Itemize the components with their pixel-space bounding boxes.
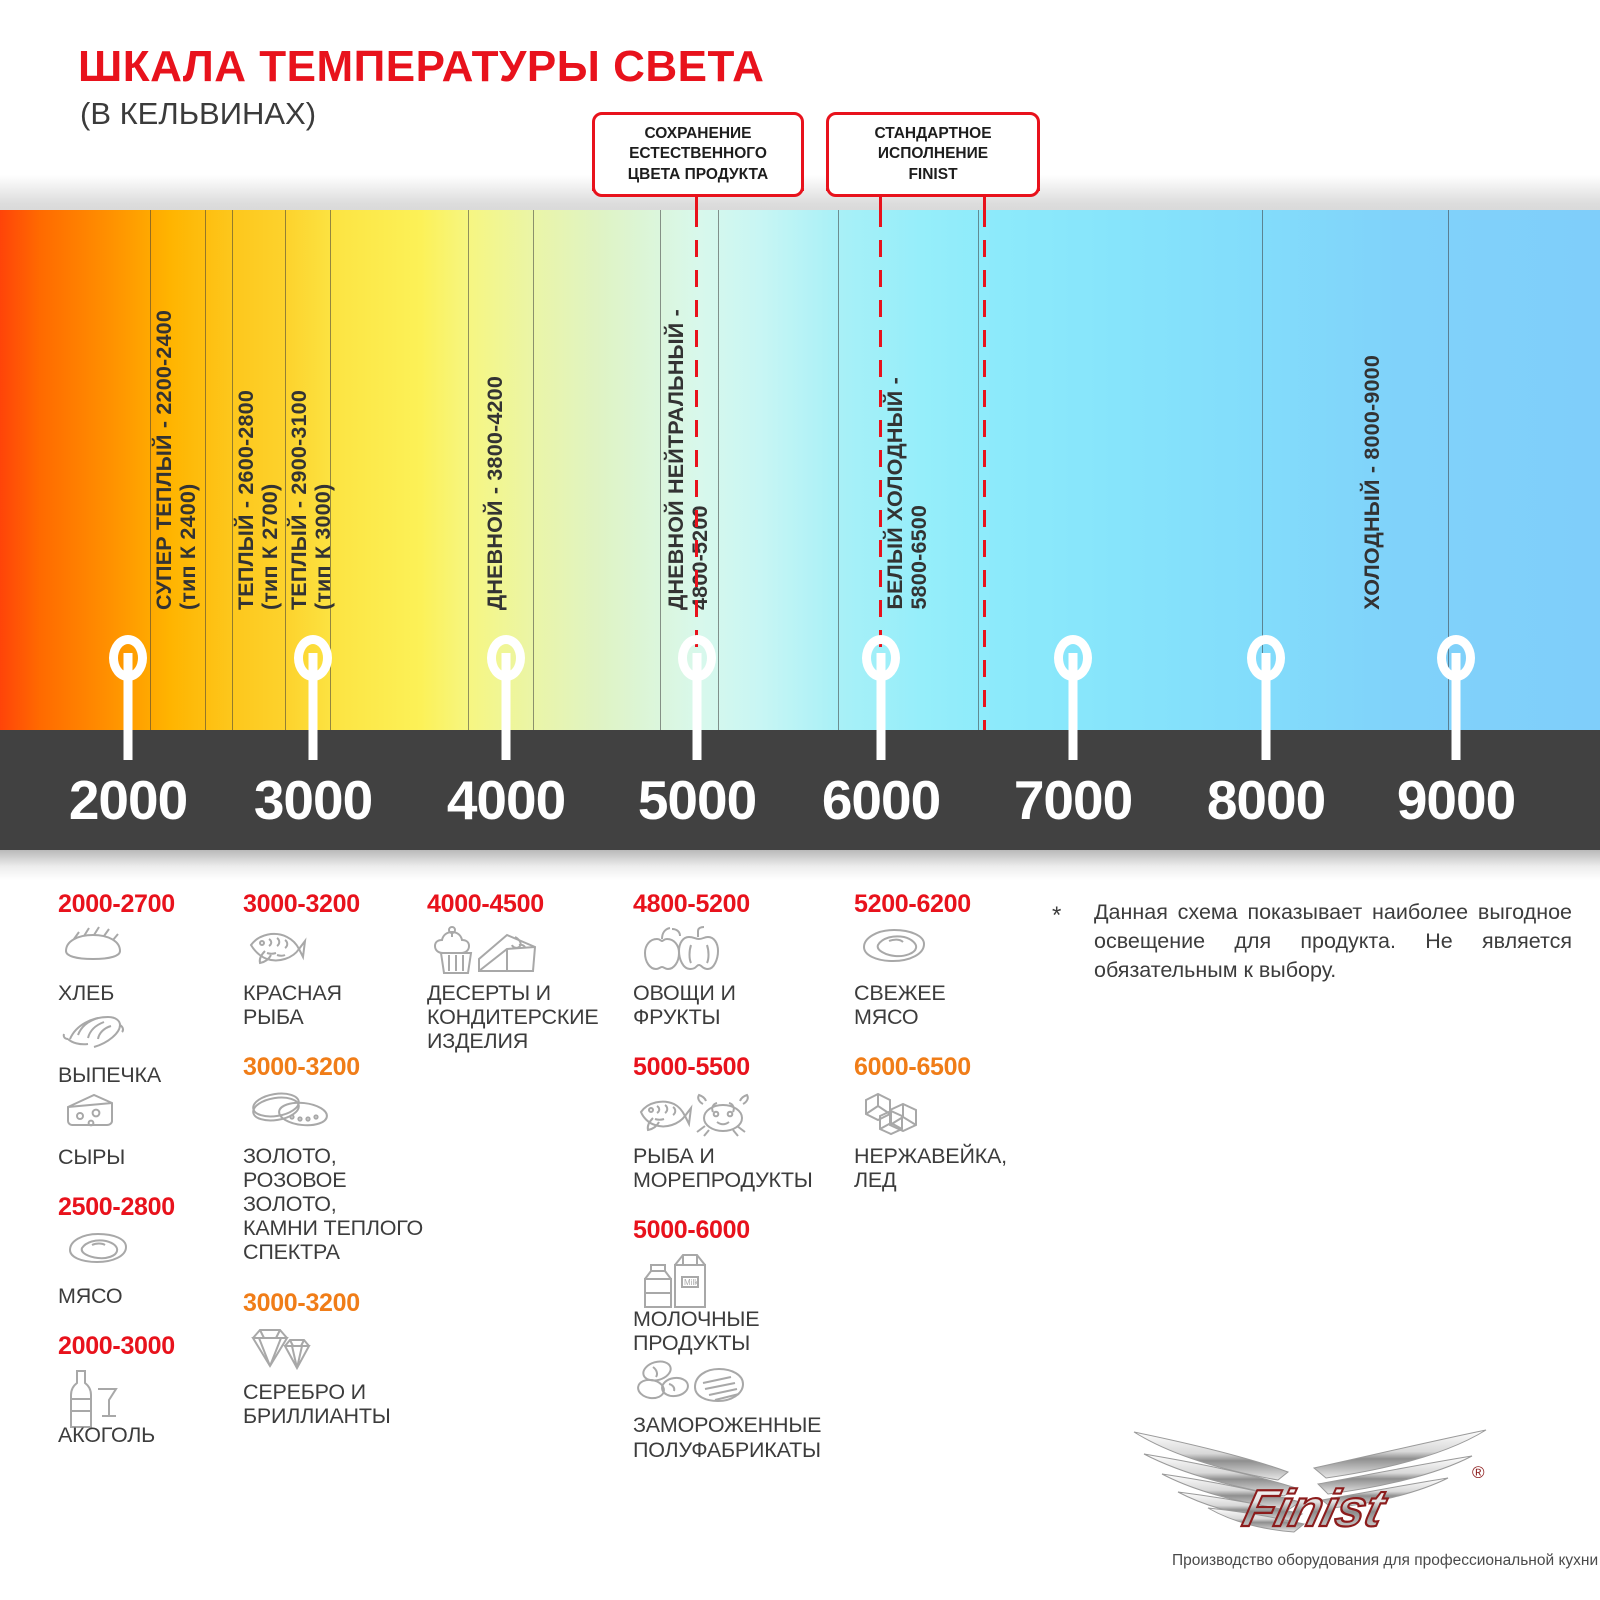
legend-group-spacer bbox=[243, 1031, 433, 1053]
infographic-page: ШКАЛА ТЕМПЕРАТУРЫ СВЕТА (В КЕЛЬВИНАХ) СУ… bbox=[0, 0, 1600, 1600]
legend-range-label: 4000-4500 bbox=[427, 890, 627, 919]
legend-item-label: ВЫПЕЧКА bbox=[58, 1063, 233, 1087]
legend-range-label: 2500-2800 bbox=[58, 1193, 233, 1222]
milk-icon: Milk bbox=[633, 1251, 848, 1305]
legend-item: СЕРЕБРО И БРИЛЛИАНТЫ bbox=[243, 1324, 433, 1428]
legend-range-label: 3000-3200 bbox=[243, 890, 433, 919]
svg-text:Milk: Milk bbox=[684, 1278, 699, 1287]
spectrum-divider-line bbox=[978, 210, 979, 730]
legend-group-spacer bbox=[58, 1171, 233, 1193]
axis-tick-5000: 5000 bbox=[638, 768, 756, 832]
legend-range-label: 3000-3200 bbox=[243, 1289, 433, 1318]
axis-shadow bbox=[0, 850, 1600, 880]
finist-logo: Finist ® Производство оборудования для п… bbox=[1082, 1400, 1582, 1590]
page-title: ШКАЛА ТЕМПЕРАТУРЫ СВЕТА bbox=[78, 42, 764, 92]
logo-registered-mark: ® bbox=[1472, 1463, 1485, 1482]
spectrum-band-label: БЕЛЫЙ ХОЛОДНЫЙ - 5800-6500 bbox=[883, 377, 931, 610]
axis-pin bbox=[669, 635, 725, 760]
legend-group-spacer bbox=[854, 1031, 1034, 1053]
logo-tagline: Производство оборудования для профессион… bbox=[1172, 1552, 1592, 1570]
legend-range-label: 2000-2700 bbox=[58, 890, 233, 919]
footnote: * Данная схема показывает наиболее выгод… bbox=[1052, 898, 1572, 986]
frozen-food-icon bbox=[633, 1357, 848, 1411]
spectrum-band-label: ДНЕВНОЙ - 3800-4200 bbox=[483, 376, 507, 610]
legend-item: СВЕЖЕЕ МЯСО bbox=[854, 925, 1034, 1029]
axis-pin-ring bbox=[487, 635, 525, 681]
kelvin-axis-bar bbox=[0, 730, 1600, 850]
legend-column: 5200-6200СВЕЖЕЕ МЯСО6000-6500НЕРЖАВЕЙКА,… bbox=[854, 890, 1034, 1194]
legend-item-label: НЕРЖАВЕЙКА, ЛЕД bbox=[854, 1144, 1034, 1192]
axis-pin bbox=[1045, 635, 1101, 760]
callout-finist-standard: СТАНДАРТНОЕ ИСПОЛНЕНИЕ FINIST bbox=[826, 112, 1040, 197]
legend-item: ЗОЛОТО, РОЗОВОЕ ЗОЛОТО, КАМНИ ТЕПЛОГО СП… bbox=[243, 1088, 433, 1264]
steak-icon bbox=[58, 1228, 233, 1282]
spectrum-band-label: СУПЕР ТЕПЛЫЙ - 2200-2400 (тип К 2400) bbox=[152, 310, 200, 610]
legend-item-label: ЗОЛОТО, РОЗОВОЕ ЗОЛОТО, КАМНИ ТЕПЛОГО СП… bbox=[243, 1144, 433, 1264]
legend-item-label: СЫРЫ bbox=[58, 1145, 233, 1169]
spectrum-divider-line bbox=[232, 210, 233, 730]
legend-item-label: ХЛЕБ bbox=[58, 981, 233, 1005]
cake-dessert-icon bbox=[427, 925, 627, 979]
legend-column: 2000-2700ХЛЕБВЫПЕЧКАСЫРЫ2500-2800МЯСО200… bbox=[58, 890, 233, 1449]
legend-item-label: ДЕСЕРТЫ И КОНДИТЕРСКИЕ ИЗДЕЛИЯ bbox=[427, 981, 627, 1053]
spectrum-band-label: ХОЛОДНЫЙ - 8000-9000 bbox=[1360, 355, 1384, 610]
spectrum-divider-line bbox=[205, 210, 206, 730]
legend-item: КРАСНАЯ РЫБА bbox=[243, 925, 433, 1029]
spectrum-divider-line bbox=[838, 210, 839, 730]
legend-item: РЫБА И МОРЕПРОДУКТЫ bbox=[633, 1088, 848, 1192]
legend-item-label: РЫБА И МОРЕПРОДУКТЫ bbox=[633, 1144, 848, 1192]
bread-icon bbox=[58, 925, 233, 979]
axis-tick-6000: 6000 bbox=[822, 768, 940, 832]
axis-tick-2000: 2000 bbox=[69, 768, 187, 832]
legend-range-label: 5000-6000 bbox=[633, 1216, 848, 1245]
legend-group-spacer bbox=[243, 1267, 433, 1289]
spectrum-gradient-bar: СУПЕР ТЕПЛЫЙ - 2200-2400 (тип К 2400)ТЕП… bbox=[0, 210, 1600, 730]
spectrum-band-label: ТЕПЛЫЙ - 2600-2800 (тип К 2700) bbox=[234, 390, 282, 610]
axis-pin bbox=[1428, 635, 1484, 760]
legend-range-label: 5000-5500 bbox=[633, 1053, 848, 1082]
logo-brand-text: Finist bbox=[1238, 1480, 1394, 1538]
legend-item: ЗАМОРОЖЕННЫЕ ПОЛУФАБРИКАТЫ bbox=[633, 1357, 848, 1461]
footnote-text: Данная схема показывает наиболее выгодно… bbox=[1094, 898, 1572, 986]
legend-column: 4000-4500ДЕСЕРТЫ И КОНДИТЕРСКИЕ ИЗДЕЛИЯ bbox=[427, 890, 627, 1055]
axis-tick-7000: 7000 bbox=[1014, 768, 1132, 832]
legend-item-label: ОВОЩИ И ФРУКТЫ bbox=[633, 981, 848, 1029]
axis-tick-3000: 3000 bbox=[254, 768, 372, 832]
fresh-meat-icon bbox=[854, 925, 1034, 979]
axis-pin-ring bbox=[862, 635, 900, 681]
spectrum-band-label: ТЕПЛЫЙ - 2900-3100 (тип К 3000) bbox=[287, 390, 335, 610]
axis-tick-9000: 9000 bbox=[1397, 768, 1515, 832]
cheese-icon bbox=[58, 1089, 233, 1143]
legend-item-label: ЗАМОРОЖЕННЫЕ ПОЛУФАБРИКАТЫ bbox=[633, 1413, 848, 1461]
legend-item: ДЕСЕРТЫ И КОНДИТЕРСКИЕ ИЗДЕЛИЯ bbox=[427, 925, 627, 1053]
fish-icon bbox=[243, 925, 433, 979]
axis-tick-4000: 4000 bbox=[447, 768, 565, 832]
dashed-marker-line bbox=[983, 210, 986, 730]
legend-item: СЫРЫ bbox=[58, 1089, 233, 1169]
legend-item-label: СВЕЖЕЕ МЯСО bbox=[854, 981, 1034, 1029]
legend-column: 3000-3200КРАСНАЯ РЫБА3000-3200ЗОЛОТО, РО… bbox=[243, 890, 433, 1430]
legend-item-label: АКОГОЛЬ bbox=[58, 1423, 233, 1447]
axis-pin-ring bbox=[1437, 635, 1475, 681]
axis-pin bbox=[1238, 635, 1294, 760]
legend-range-label: 6000-6500 bbox=[854, 1053, 1034, 1082]
legend-item: НЕРЖАВЕЙКА, ЛЕД bbox=[854, 1088, 1034, 1192]
finist-wings-logo-icon: Finist ® bbox=[1082, 1400, 1582, 1560]
page-subtitle: (В КЕЛЬВИНАХ) bbox=[80, 96, 316, 132]
bottle-glass-icon bbox=[58, 1367, 233, 1421]
axis-pin-ring bbox=[1247, 635, 1285, 681]
ice-cubes-icon bbox=[854, 1088, 1034, 1142]
callout-natural-color: СОХРАНЕНИЕ ЕСТЕСТВЕННОГО ЦВЕТА ПРОДУКТА bbox=[592, 112, 804, 197]
legend-item: ВЫПЕЧКА bbox=[58, 1007, 233, 1087]
footnote-asterisk: * bbox=[1052, 900, 1061, 933]
fish-crab-icon bbox=[633, 1088, 848, 1142]
legend-item: АКОГОЛЬ bbox=[58, 1367, 233, 1447]
legend-column: 4800-5200ОВОЩИ И ФРУКТЫ5000-5500РЫБА И М… bbox=[633, 890, 848, 1464]
legend-group-spacer bbox=[633, 1194, 848, 1216]
legend-range-label: 3000-3200 bbox=[243, 1053, 433, 1082]
legend-item-label: МОЛОЧНЫЕ ПРОДУКТЫ bbox=[633, 1307, 848, 1355]
diamond-icon bbox=[243, 1324, 433, 1378]
legend-item: ХЛЕБ bbox=[58, 925, 233, 1005]
axis-pin-ring bbox=[678, 635, 716, 681]
legend-item: МЯСО bbox=[58, 1228, 233, 1308]
legend-range-label: 2000-3000 bbox=[58, 1332, 233, 1361]
legend-item-label: СЕРЕБРО И БРИЛЛИАНТЫ bbox=[243, 1380, 433, 1428]
axis-pin-ring bbox=[109, 635, 147, 681]
legend-item: MilkМОЛОЧНЫЕ ПРОДУКТЫ bbox=[633, 1251, 848, 1355]
axis-pin bbox=[478, 635, 534, 760]
legend-item: ОВОЩИ И ФРУКТЫ bbox=[633, 925, 848, 1029]
axis-tick-8000: 8000 bbox=[1207, 768, 1325, 832]
axis-pin bbox=[853, 635, 909, 760]
legend-group-spacer bbox=[633, 1031, 848, 1053]
legend-item-label: МЯСО bbox=[58, 1284, 233, 1308]
axis-pin bbox=[100, 635, 156, 760]
vegetables-fruits-icon bbox=[633, 925, 848, 979]
spectrum-band-label: ДНЕВНОЙ НЕЙТРАЛЬНЫЙ - 4800-5200 bbox=[664, 309, 712, 610]
legend-group-spacer bbox=[58, 1310, 233, 1332]
spectrum-divider-line bbox=[468, 210, 469, 730]
legend-range-label: 5200-6200 bbox=[854, 890, 1034, 919]
axis-pin-ring bbox=[1054, 635, 1092, 681]
croissant-icon bbox=[58, 1007, 233, 1061]
axis-pin bbox=[285, 635, 341, 760]
legend-range-label: 4800-5200 bbox=[633, 890, 848, 919]
axis-pin-ring bbox=[294, 635, 332, 681]
legend-item-label: КРАСНАЯ РЫБА bbox=[243, 981, 433, 1029]
rings-icon bbox=[243, 1088, 433, 1142]
spectrum-divider-line bbox=[660, 210, 661, 730]
